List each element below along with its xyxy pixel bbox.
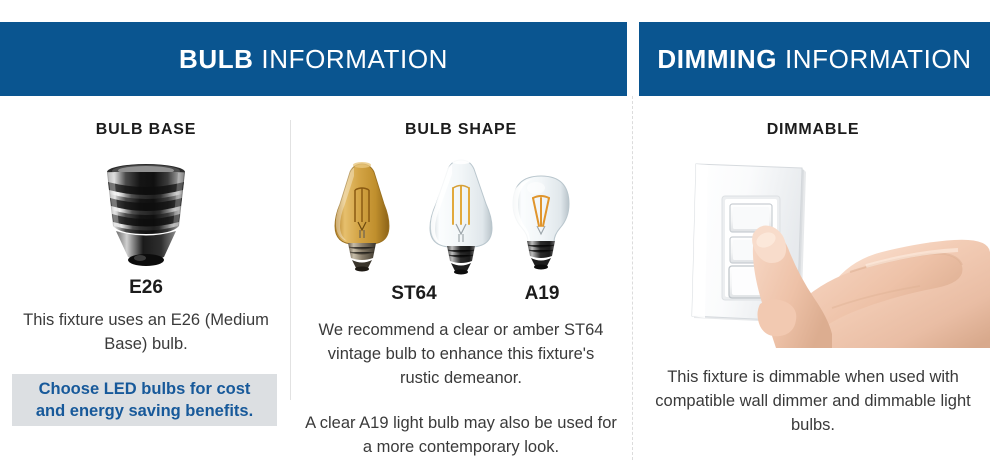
column-bulb-shape: BULB SHAPE bbox=[292, 96, 630, 460]
bulb-information-header: BULB INFORMATION bbox=[0, 22, 627, 96]
column-divider-thin bbox=[290, 120, 291, 400]
header-row: BULB INFORMATION DIMMING INFORMATION bbox=[0, 22, 990, 96]
e26-screw-base-icon bbox=[94, 160, 198, 273]
panel-divider-dotted bbox=[632, 96, 633, 460]
infographic-page: BULB INFORMATION DIMMING INFORMATION BUL… bbox=[0, 0, 990, 460]
bulb-st64-clear-icon bbox=[430, 158, 492, 275]
bulb-base-label: E26 bbox=[2, 278, 290, 297]
dimming-information-header-light-text: INFORMATION bbox=[785, 44, 972, 74]
bulb-shape-description-2: A clear A19 light bulb may also be used … bbox=[300, 412, 622, 460]
column-dimming: DIMMABLE bbox=[636, 96, 990, 438]
bulb-shape-title: BULB SHAPE bbox=[292, 122, 630, 138]
bulb-information-header-text: BULB INFORMATION bbox=[179, 46, 448, 72]
bulb-base-title: BULB BASE bbox=[2, 122, 290, 138]
led-callout-text: Choose LED bulbs for cost and energy sav… bbox=[12, 378, 277, 423]
led-callout-box: Choose LED bulbs for cost and energy sav… bbox=[12, 374, 277, 426]
bulb-st64-label: ST64 bbox=[369, 284, 459, 303]
bulb-shape-description-1: We recommend a clear or amber ST64 vinta… bbox=[306, 319, 616, 391]
content-area: BULB BASE bbox=[0, 96, 990, 460]
bulb-information-header-light-text: INFORMATION bbox=[261, 44, 448, 74]
column-bulb-base: BULB BASE bbox=[2, 96, 290, 357]
bulb-shape-artwork bbox=[292, 146, 630, 278]
dimming-information-header: DIMMING INFORMATION bbox=[639, 22, 990, 96]
bulb-a19-clear-icon bbox=[511, 176, 569, 270]
bulb-st64-amber-icon bbox=[335, 162, 389, 272]
bulb-shape-labels: ST64 A19 bbox=[292, 284, 630, 306]
dimming-information-header-text: DIMMING INFORMATION bbox=[657, 46, 971, 72]
bulb-a19-label: A19 bbox=[497, 284, 587, 303]
bulb-base-artwork bbox=[2, 156, 290, 268]
bulb-base-description: This fixture uses an E26 (Medium Base) b… bbox=[22, 309, 270, 357]
dimming-information-header-strong: DIMMING bbox=[657, 44, 777, 74]
dimming-artwork bbox=[636, 148, 990, 344]
dimming-description: This fixture is dimmable when used with … bbox=[654, 366, 972, 438]
wall-dimmer-switch-with-hand-icon bbox=[692, 164, 990, 348]
dimming-information-header-light bbox=[777, 44, 785, 74]
dimmable-title: DIMMABLE bbox=[636, 122, 990, 138]
bulb-information-header-strong: BULB bbox=[179, 44, 254, 74]
